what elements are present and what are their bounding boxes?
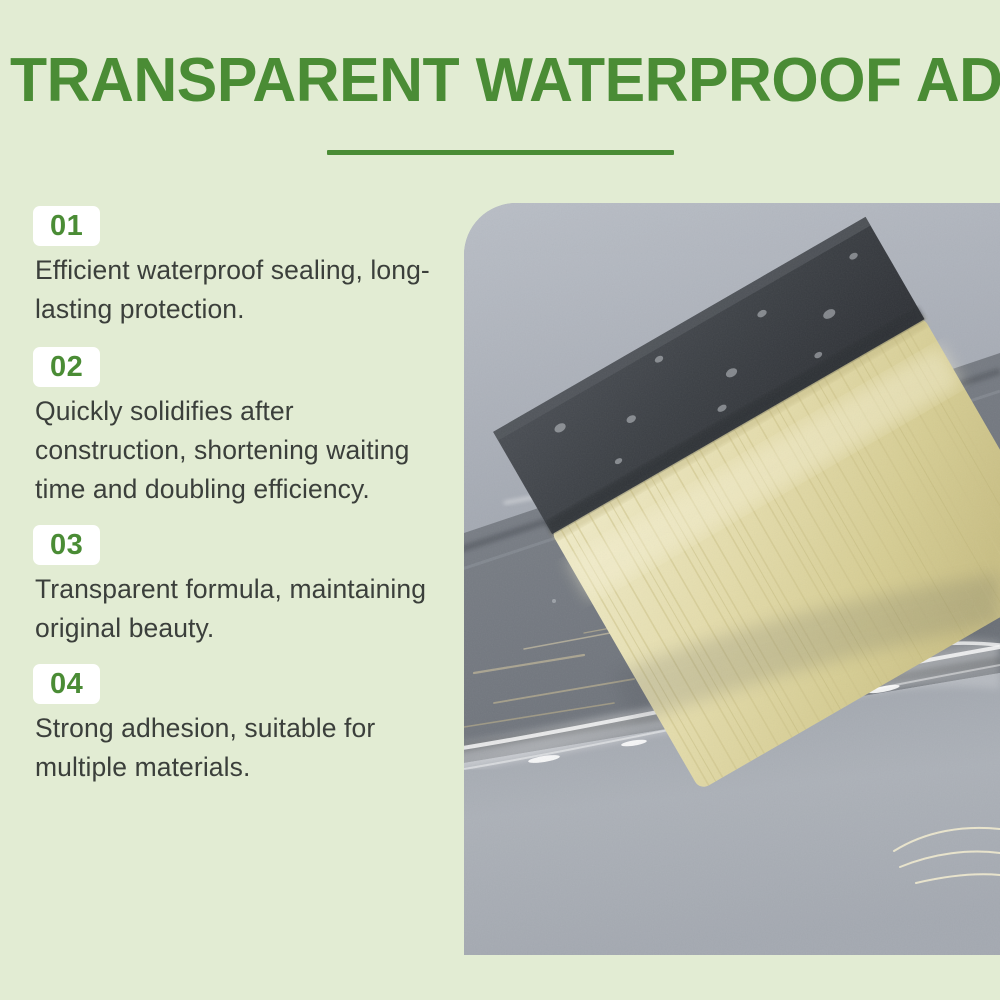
feature-list: 01 Efficient waterproof sealing, long-la… (33, 206, 453, 801)
feature-text-04: Strong adhesion, suitable for multiple m… (35, 709, 450, 787)
feature-item-02: 02 Quickly solidifies after construction… (33, 347, 453, 509)
page-title: TRANSPARENT WATERPROOF ADHESIVE (10, 46, 990, 116)
feature-text-02: Quickly solidifies after construction, s… (35, 392, 450, 509)
feature-item-01: 01 Efficient waterproof sealing, long-la… (33, 206, 453, 329)
title-underline-divider (327, 150, 674, 155)
photo-illustration (464, 203, 1000, 955)
product-photo (464, 203, 1000, 955)
feature-item-04: 04 Strong adhesion, suitable for multipl… (33, 664, 453, 787)
feature-item-03: 03 Transparent formula, maintaining orig… (33, 525, 453, 648)
feature-text-01: Efficient waterproof sealing, long-lasti… (35, 251, 450, 329)
feature-number-badge-03: 03 (33, 525, 100, 565)
feature-text-03: Transparent formula, maintaining origina… (35, 570, 450, 648)
feature-number-badge-02: 02 (33, 347, 100, 387)
feature-number-badge-04: 04 (33, 664, 100, 704)
feature-number-badge-01: 01 (33, 206, 100, 246)
poster-root: TRANSPARENT WATERPROOF ADHESIVE 01 Effic… (0, 0, 1000, 1000)
